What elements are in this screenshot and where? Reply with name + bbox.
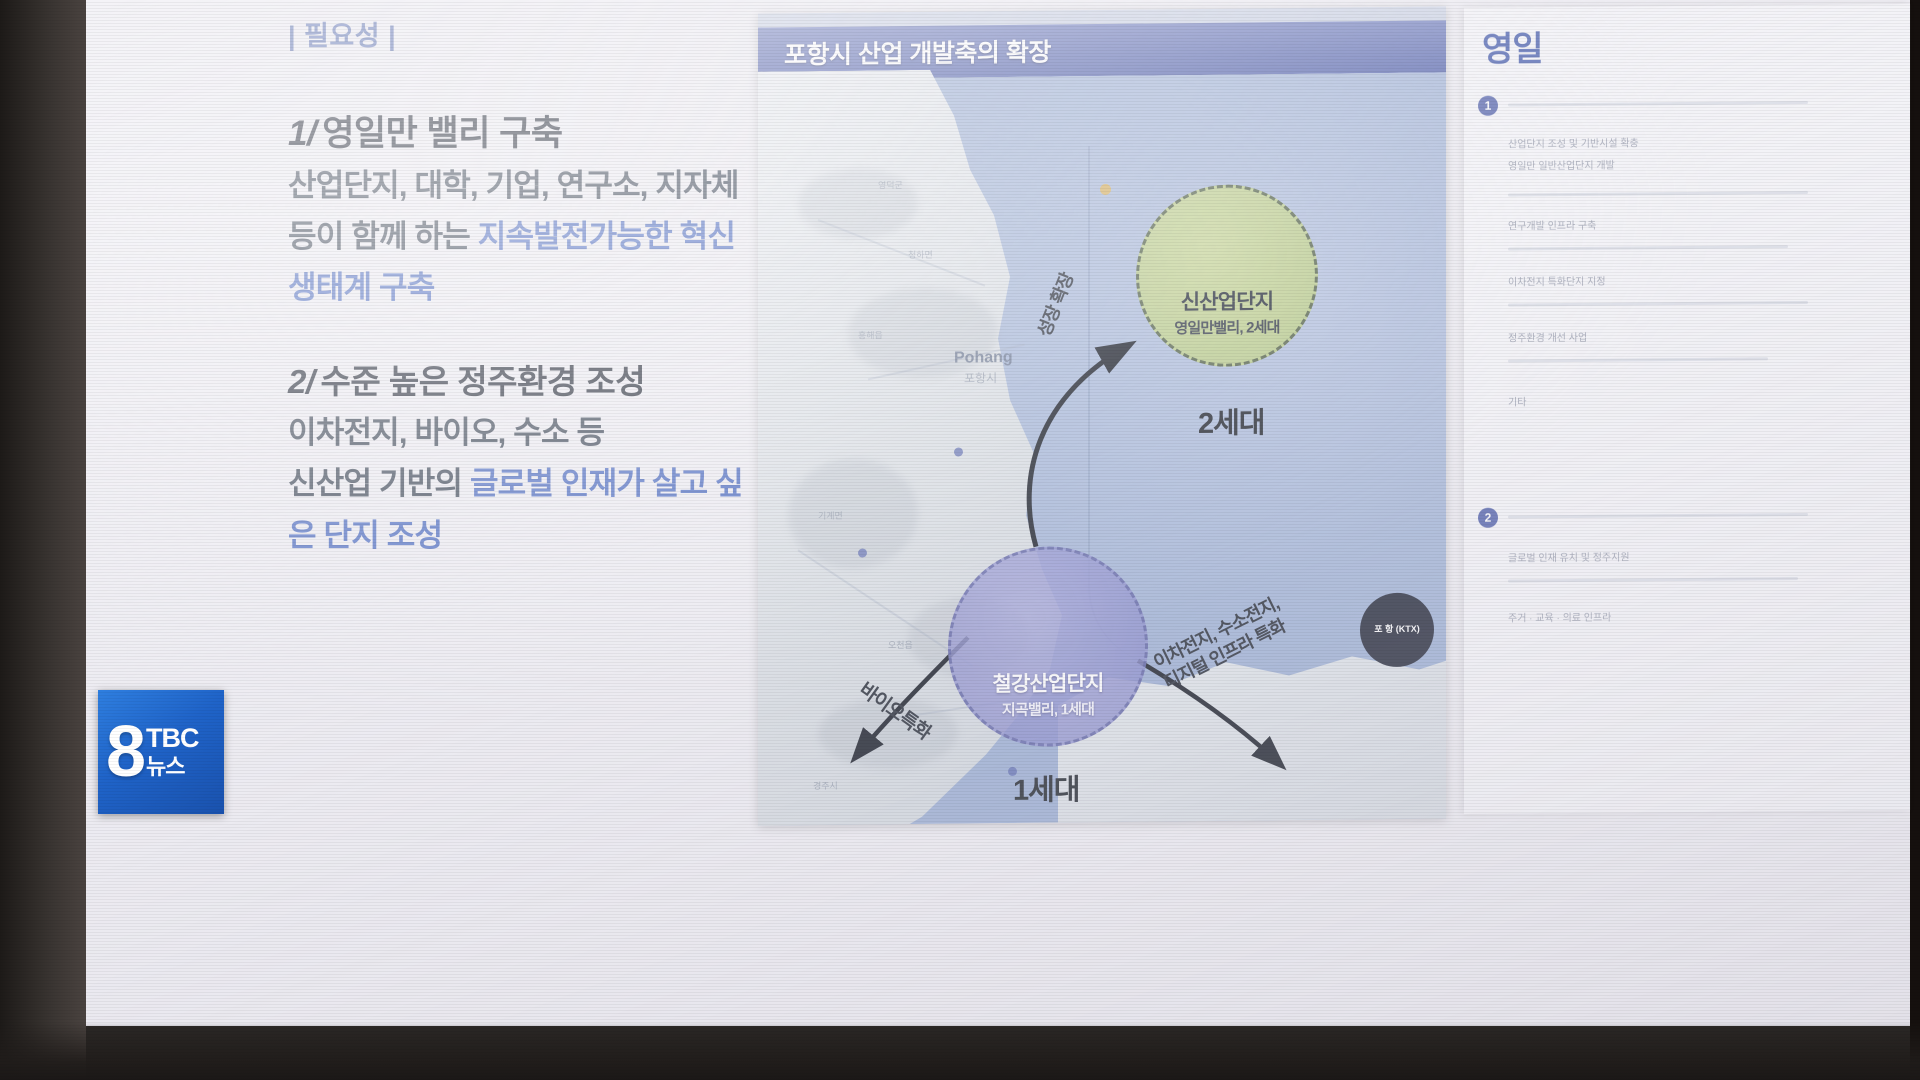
side-panel-text: 주거 · 교육 · 의료 인프라 [1508, 609, 1611, 625]
side-panel-text: 산업단지 조성 및 기반시설 확충 [1508, 134, 1639, 150]
slide-text-column: | 필요성 | 1/영일만 밸리 구축 산업단지, 대학, 기업, 연구소, 지… [200, 14, 800, 563]
section-1-line-3: 생태계 구축 [288, 264, 800, 311]
side-panel-rule [1508, 513, 1808, 519]
side-panel-text: 기타 [1508, 393, 1526, 408]
section-2-heading-text: 수준 높은 정주환경 조성 [321, 363, 646, 400]
section-1-heading: 1/영일만 밸리 구축 [288, 105, 800, 156]
zone-subtitle-new-industry: 영일만밸리, 2세대 [1174, 316, 1279, 338]
studio-wall-right [1910, 0, 1920, 1080]
broadcast-frame: | 필요성 | 1/영일만 밸리 구축 산업단지, 대학, 기업, 연구소, 지… [0, 0, 1920, 1080]
projection-screen: | 필요성 | 1/영일만 밸리 구축 산업단지, 대학, 기업, 연구소, 지… [86, 0, 1910, 1026]
side-panel-text: 이차전지 특화단지 지정 [1508, 273, 1606, 289]
slide-kicker: | 필요성 | [288, 14, 800, 53]
side-panel-rule [1508, 301, 1808, 307]
side-panel-rule [1508, 577, 1798, 583]
side-panel-bullet-2: 2 [1478, 508, 1498, 528]
side-panel-text: 정주환경 개선 사업 [1508, 329, 1587, 345]
map-canvas: 영덕군 청하면 흥해읍 Pohang 포항시 기계면 오천읍 경주시 [758, 72, 1446, 825]
side-panel-rule [1508, 191, 1808, 197]
side-panel-clipped: 영일 1 산업단지 조성 및 기반시설 확충 영일만 일반산업단지 개발 연구개… [1464, 4, 1910, 814]
side-panel-rule [1508, 245, 1788, 250]
side-panel-text: 영일만 일반산업단지 개발 [1508, 157, 1615, 173]
section-2-line-2-highlight: 글로벌 인재가 살고 싶 [470, 466, 743, 501]
side-panel-text: 글로벌 인재 유치 및 정주지원 [1508, 549, 1630, 565]
map-panel-title: 포항시 산업 개발축의 확장 [784, 33, 1051, 72]
generation-label-1: 1세대 [1013, 766, 1080, 809]
logo-channel-number: 8 [106, 720, 142, 785]
side-panel-text: 연구개발 인프라 구축 [1508, 217, 1596, 233]
section-1-line-2-highlight: 지속발전가능한 혁신 [478, 219, 735, 254]
generation-label-2: 2세대 [1198, 399, 1265, 442]
section-1-line-2-plain: 등이 함께 하는 [288, 219, 478, 254]
zone-title-new-industry: 신산업단지 [1181, 289, 1274, 315]
section-2-line-3: 은 단지 조성 [288, 512, 800, 559]
broadcast-logo: 8 TBC 뉴스 [98, 690, 224, 814]
logo-network-name: TBC [146, 725, 199, 752]
logo-text-group: TBC 뉴스 [146, 725, 199, 778]
slide-section-2: 2/수준 높은 정주환경 조성 이차전지, 바이오, 수소 등 신산업 기반의 … [200, 355, 800, 558]
slide-section-1: 1/영일만 밸리 구축 산업단지, 대학, 기업, 연구소, 지자체 등이 함께… [200, 105, 800, 311]
section-2-heading: 2/수준 높은 정주환경 조성 [288, 355, 800, 403]
section-1-heading-text: 영일만 밸리 구축 [322, 114, 562, 153]
map-panel: 포항시 산업 개발축의 확장 영덕군 청하면 흥해읍 Pohang [758, 6, 1446, 825]
section-1-number: 1/ [288, 114, 316, 153]
side-panel-rule [1508, 357, 1768, 362]
side-panel-rule [1508, 101, 1808, 107]
studio-wall-left [0, 0, 86, 1080]
section-1-line-2: 등이 함께 하는 지속발전가능한 혁신 [288, 213, 800, 260]
section-2-number: 2/ [288, 363, 315, 400]
side-panel-bullet-1: 1 [1478, 96, 1498, 116]
studio-wall-bottom [0, 1022, 1920, 1080]
section-1-line-1: 산업단지, 대학, 기업, 연구소, 지자체 [288, 162, 800, 209]
section-2-line-2: 신산업 기반의 글로벌 인재가 살고 싶 [288, 460, 800, 507]
zone-title-steel-industry: 철강산업단지 [992, 671, 1103, 697]
section-2-line-2-plain: 신산업 기반의 [288, 466, 470, 501]
side-panel-title: 영일 [1482, 21, 1543, 71]
section-2-line-1: 이차전지, 바이오, 수소 등 [288, 409, 800, 456]
zone-subtitle-steel-industry: 지곡밸리, 1세대 [1002, 698, 1094, 720]
logo-program-name: 뉴스 [146, 755, 199, 778]
